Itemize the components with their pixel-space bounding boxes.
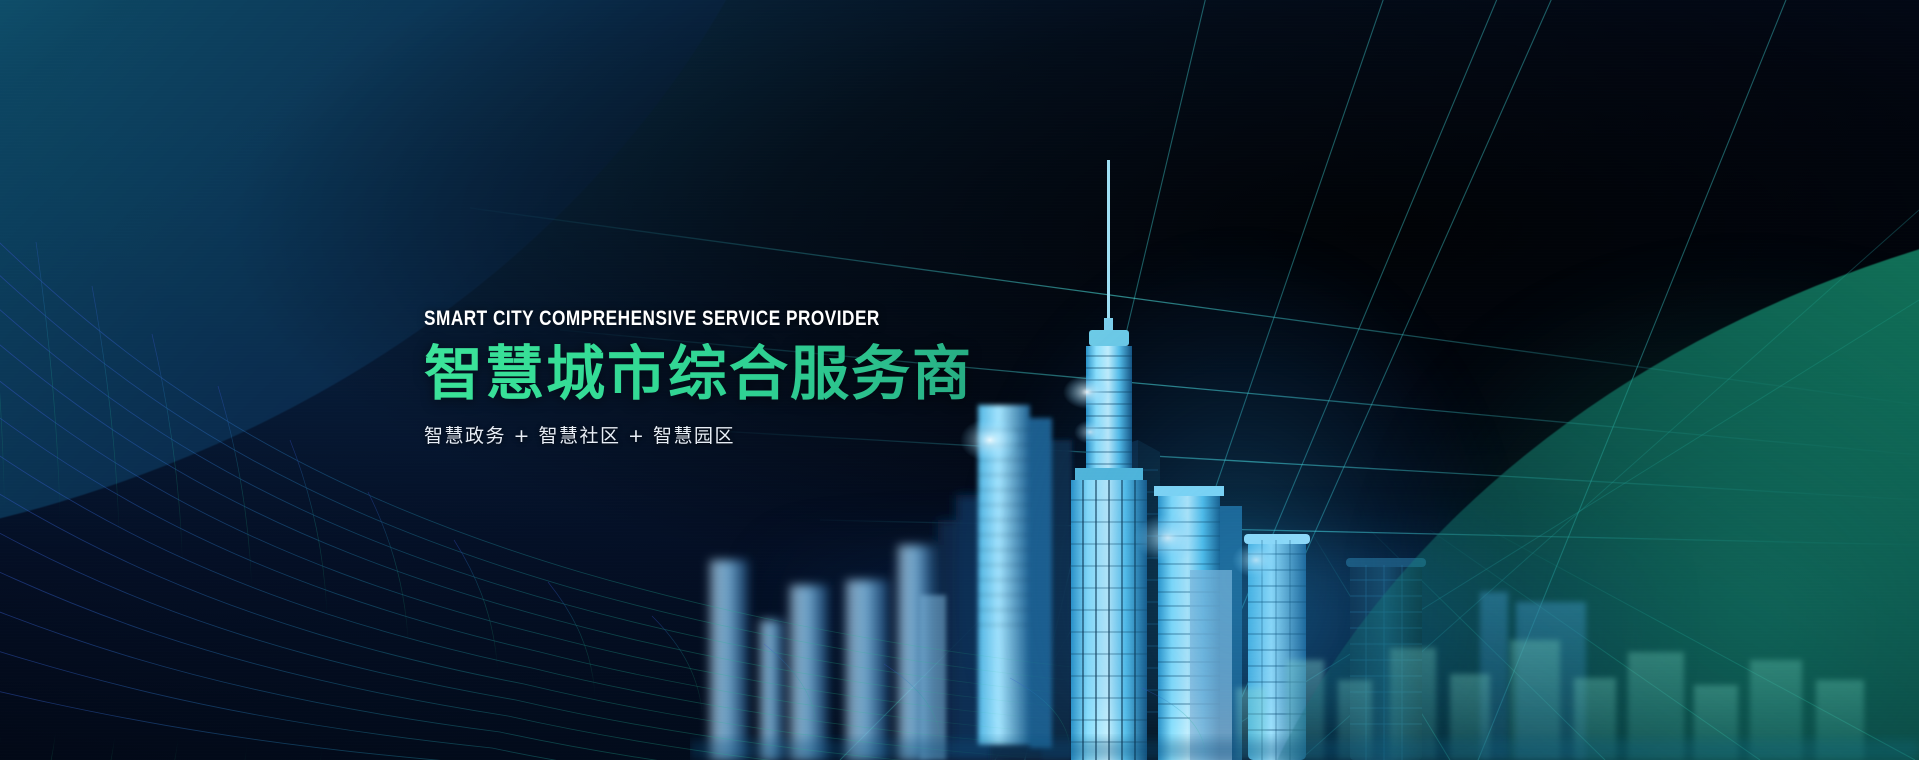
page-title: 智慧城市综合服务商 [424,343,1124,405]
hero-banner: SMART CITY COMPREHENSIVE SERVICE PROVIDE… [0,0,1919,760]
hero-copy: SMART CITY COMPREHENSIVE SERVICE PROVIDE… [424,308,1124,448]
subtitle-text: 智慧政务 + 智慧社区 + 智慧园区 [424,421,1124,448]
eyebrow-text: SMART CITY COMPREHENSIVE SERVICE PROVIDE… [424,308,998,329]
